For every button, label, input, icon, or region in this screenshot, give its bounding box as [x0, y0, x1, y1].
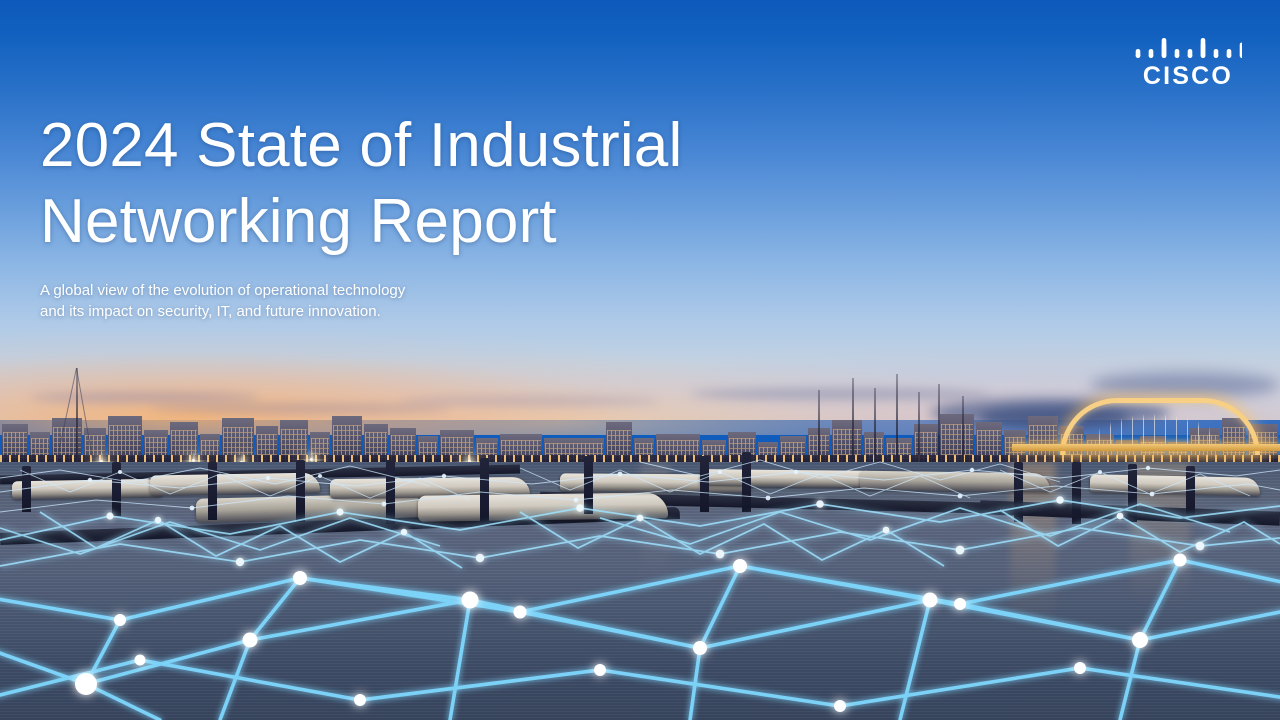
page-subtitle: A global view of the evolution of operat…	[40, 280, 600, 322]
cisco-bridge-mark-icon	[1134, 36, 1242, 62]
cisco-logo: CISCO	[1134, 36, 1242, 89]
report-cover-slide: CISCO 2024 State of Industrial Networkin…	[0, 0, 1280, 720]
page-title: 2024 State of Industrial Networking Repo…	[40, 108, 800, 260]
cisco-wordmark: CISCO	[1134, 63, 1242, 89]
